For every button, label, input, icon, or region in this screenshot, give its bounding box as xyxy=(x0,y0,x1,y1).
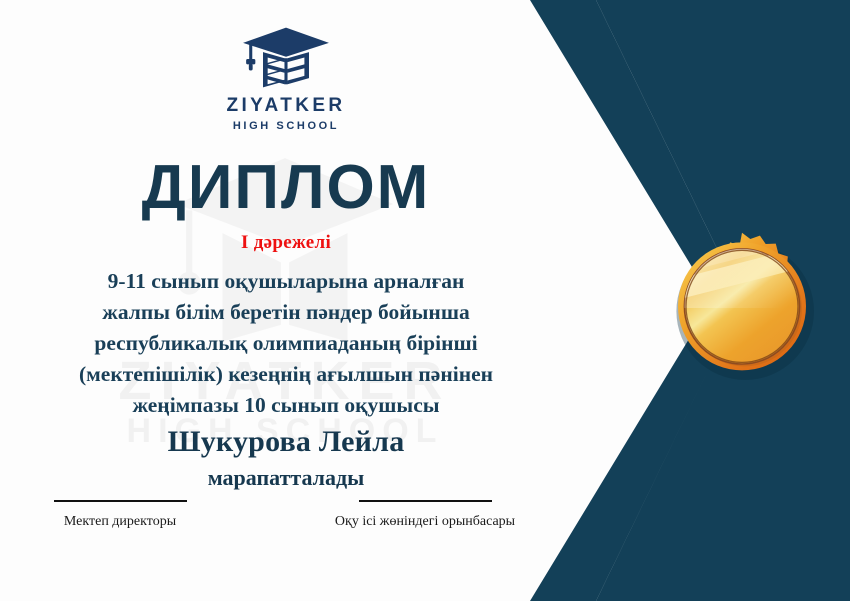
closing-text: марапатталады xyxy=(16,462,556,494)
certificate-page: ZIYATKER HIGH SCHOOL xyxy=(0,0,850,601)
signature-label: Мектеп директоры xyxy=(20,514,220,530)
degree-label: I дәрежелі xyxy=(241,232,331,254)
award-text-line-5: жеңімпазы 10 сынып оқушысы xyxy=(16,390,556,421)
graduation-cap-book-logo-icon xyxy=(240,26,332,92)
recipient-name: Шукурова Лейла xyxy=(16,421,556,462)
signature-line xyxy=(359,500,492,502)
page-title: ДИПЛОМ xyxy=(142,157,431,219)
school-logo: ZIYATKER HIGH SCHOOL xyxy=(226,26,345,132)
school-logo-name: ZIYATKER xyxy=(226,95,345,117)
gold-award-seal-icon xyxy=(662,228,822,388)
award-text: 9-11 сынып оқушыларына арналған жалпы бі… xyxy=(16,266,556,494)
award-text-line-1: 9-11 сынып оқушыларына арналған xyxy=(16,266,556,297)
award-text-line-3: республикалық олимпиаданың бірінші xyxy=(16,328,556,359)
school-logo-subtitle: HIGH SCHOOL xyxy=(233,120,339,132)
award-text-line-2: жалпы білім беретін пәндер бойынша xyxy=(16,297,556,328)
award-text-line-4: (мектепішілік) кезеңнің ағылшын пәнінен xyxy=(16,359,556,390)
signature-label: Оқу ісі жөніндегі орынбасары xyxy=(300,514,550,530)
signature-line xyxy=(54,500,187,502)
signature-deputy: Оқу ісі жөніндегі орынбасары xyxy=(300,500,550,530)
signature-director: Мектеп директоры xyxy=(20,500,220,530)
